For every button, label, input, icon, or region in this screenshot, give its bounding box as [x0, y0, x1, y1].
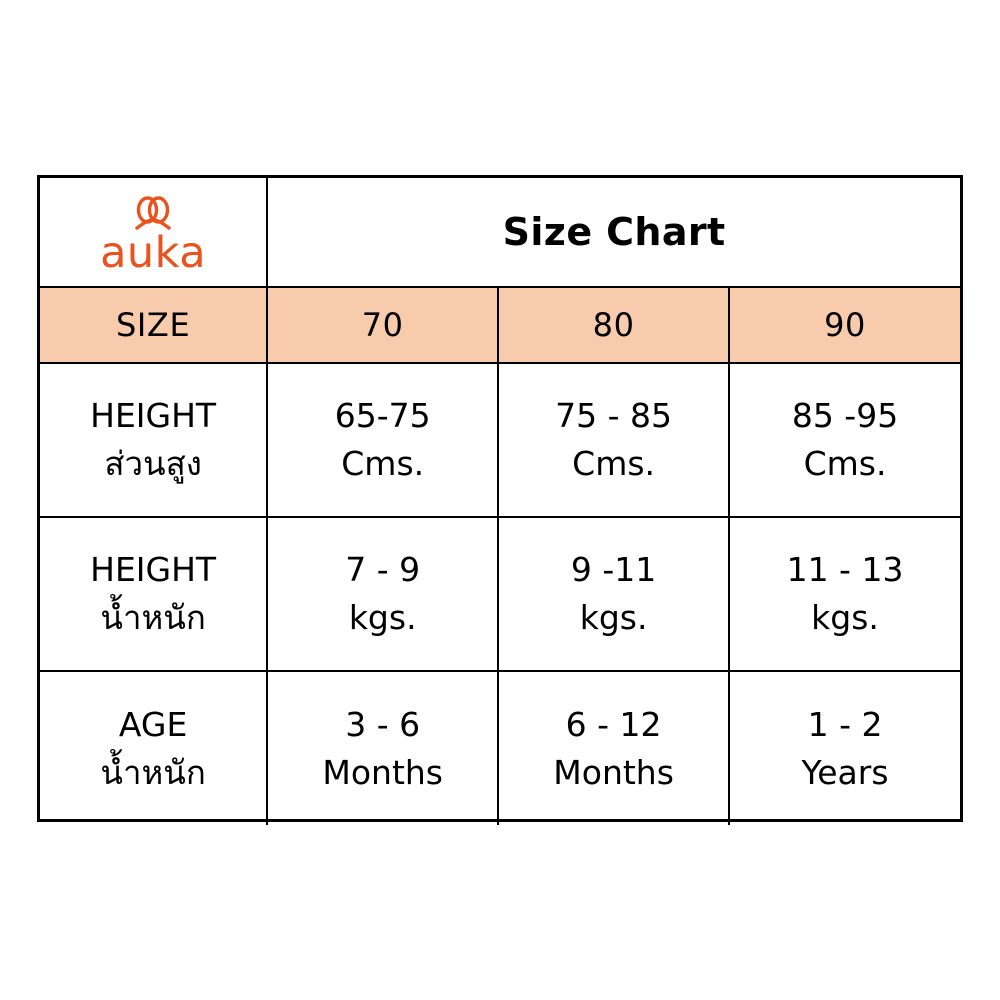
row-label-age: AGE น้ำหนัก: [40, 671, 267, 825]
cell-height-90: 85 -95 Cms.: [729, 363, 960, 517]
column-header-row: SIZE 70 80 90: [40, 287, 960, 363]
cell-unit: Cms.: [572, 441, 655, 487]
brand-lockup: auka: [40, 178, 266, 286]
cell-value: 11 - 13: [787, 547, 904, 593]
cell-value: 85 -95: [792, 393, 898, 439]
cell-unit: Cms.: [804, 441, 887, 487]
cell-weight-80: 9 -11 kgs.: [498, 517, 729, 671]
cell-height-80: 75 - 85 Cms.: [498, 363, 729, 517]
cell-unit: kgs.: [349, 595, 417, 641]
row-label-line1: AGE: [119, 702, 187, 748]
row-label-line2: น้ำหนัก: [100, 750, 205, 796]
size-chart-container: auka Size Chart SIZE 70 80 90 HEIGHT ส่ว…: [37, 175, 963, 822]
column-header-90: 90: [729, 287, 960, 363]
table-row: HEIGHT ส่วนสูง 65-75 Cms. 75 - 85 Cms.: [40, 363, 960, 517]
brand-cell: auka: [40, 178, 267, 287]
cell-value: 65-75: [335, 393, 431, 439]
column-header-size: SIZE: [40, 287, 267, 363]
cell-value: 7 - 9: [345, 547, 420, 593]
column-header-80: 80: [498, 287, 729, 363]
row-label-line1: HEIGHT: [90, 547, 216, 593]
column-header-70: 70: [267, 287, 498, 363]
cell-height-70: 65-75 Cms.: [267, 363, 498, 517]
cell-unit: Months: [553, 750, 674, 796]
brand-wordmark: auka: [100, 234, 206, 273]
row-label-line1: HEIGHT: [90, 393, 216, 439]
row-label-line2: น้ำหนัก: [100, 595, 205, 641]
cell-value: 1 - 2: [808, 702, 883, 748]
cell-unit: Years: [801, 750, 888, 796]
cell-value: 3 - 6: [345, 702, 420, 748]
cell-weight-90: 11 - 13 kgs.: [729, 517, 960, 671]
size-chart-table: auka Size Chart SIZE 70 80 90 HEIGHT ส่ว…: [40, 178, 960, 825]
cell-unit: Months: [322, 750, 443, 796]
row-label-line2: ส่วนสูง: [104, 441, 202, 487]
cell-value: 75 - 85: [555, 393, 672, 439]
table-row: HEIGHT น้ำหนัก 7 - 9 kgs. 9 -11 kgs.: [40, 517, 960, 671]
cell-weight-70: 7 - 9 kgs.: [267, 517, 498, 671]
cell-age-90: 1 - 2 Years: [729, 671, 960, 825]
cell-unit: Cms.: [341, 441, 424, 487]
cell-unit: kgs.: [811, 595, 879, 641]
row-label-height-cm: HEIGHT ส่วนสูง: [40, 363, 267, 517]
cell-unit: kgs.: [580, 595, 648, 641]
table-row: AGE น้ำหนัก 3 - 6 Months 6 - 12 Months: [40, 671, 960, 825]
cell-value: 6 - 12: [566, 702, 662, 748]
chart-header-row: auka Size Chart: [40, 178, 960, 287]
page-title: Size Chart: [267, 178, 960, 287]
row-label-weight-kg: HEIGHT น้ำหนัก: [40, 517, 267, 671]
cell-age-80: 6 - 12 Months: [498, 671, 729, 825]
cell-age-70: 3 - 6 Months: [267, 671, 498, 825]
cell-value: 9 -11: [571, 547, 656, 593]
